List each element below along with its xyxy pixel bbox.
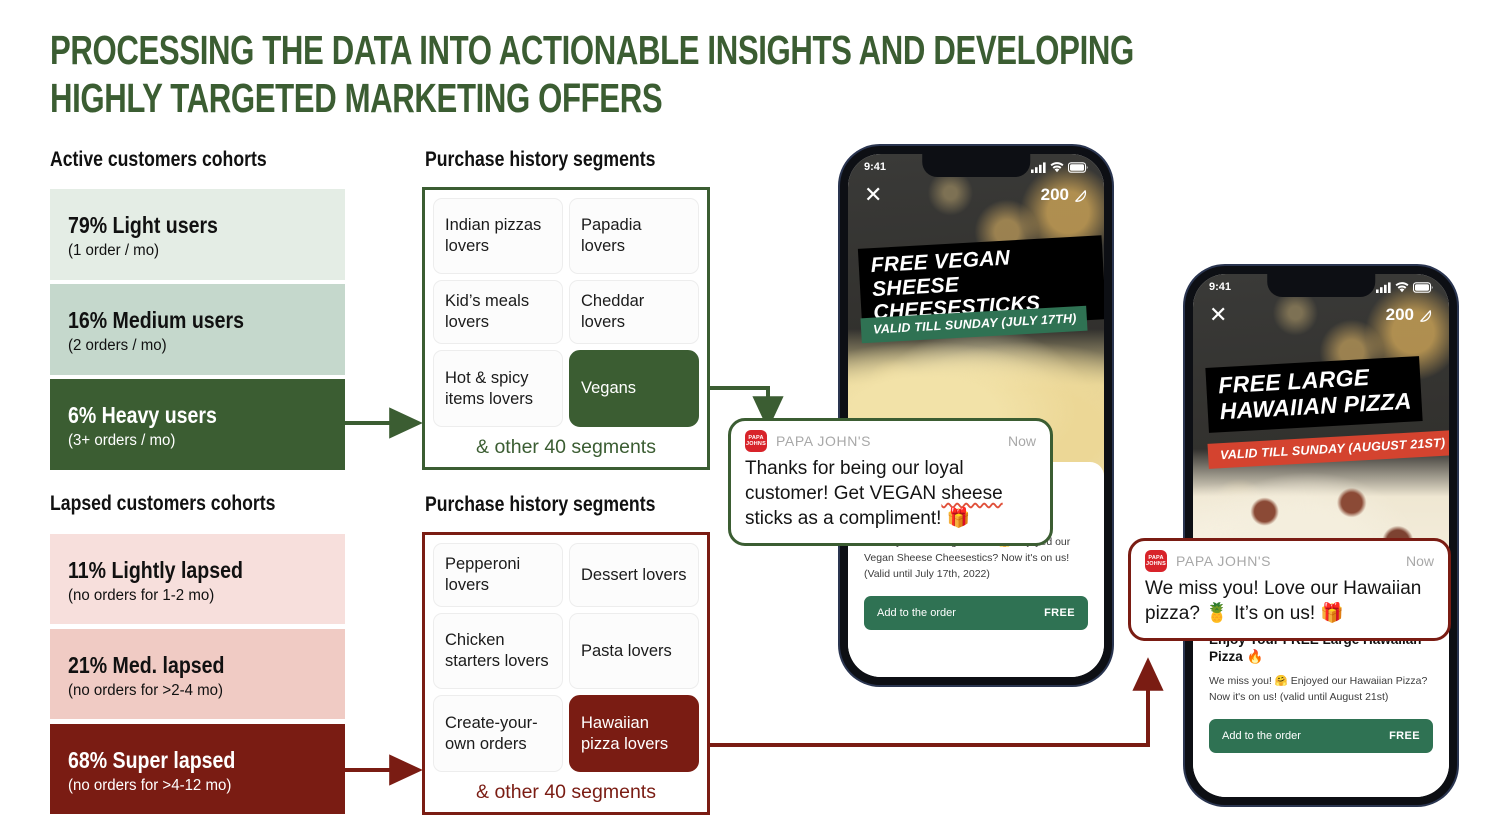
segment-cheddar-lovers[interactable]: Cheddar lovers xyxy=(569,280,699,344)
segment-dessert-lovers[interactable]: Dessert lovers xyxy=(569,543,699,607)
segment-pasta-lovers[interactable]: Pasta lovers xyxy=(569,613,699,689)
offer-banner-hawaiian: Free Large Hawaiian Pizza xyxy=(1205,356,1422,432)
segments-top-grid: Indian pizzas lovers Papadia lovers Kid’… xyxy=(425,190,707,429)
segments-top-footer: & other 40 segments xyxy=(425,429,707,468)
active-cohorts-heading: Active customers cohorts xyxy=(50,148,267,172)
segment-papadia-lovers[interactable]: Papadia lovers xyxy=(569,198,699,274)
cohort-med-lapsed-detail: (no orders for >2-4 mo) xyxy=(68,681,319,701)
cohort-light-users-detail: (1 order / mo) xyxy=(68,241,319,261)
page-title: Processing the data into actionable insi… xyxy=(50,26,947,122)
cohort-super-lapsed[interactable]: 68% Super lapsed (no orders for >4-12 mo… xyxy=(50,724,345,814)
cohort-lightly-lapsed[interactable]: 11% Lightly lapsed (no orders for 1-2 mo… xyxy=(50,534,345,624)
push-hawaiian-message: We miss you! Love our Hawaiian pizza? 🍍 … xyxy=(1145,576,1434,626)
close-icon[interactable]: ✕ xyxy=(864,184,882,206)
battery-icon xyxy=(1413,282,1433,293)
add-to-order-button[interactable]: Add to the order FREE xyxy=(864,596,1088,630)
logo-line-2: JOHNS xyxy=(1146,561,1166,567)
push-vegan-message: Thanks for being our loyal customer! Get… xyxy=(745,456,1036,531)
cohort-med-lapsed-label: 21% Med. lapsed xyxy=(68,652,288,678)
phone-hawaiian-hero-controls: ✕ 200 xyxy=(1193,304,1449,326)
push-message-misspelled-word: sheese xyxy=(941,483,1002,504)
cohort-light-users[interactable]: 79% Light users (1 order / mo) xyxy=(50,189,345,280)
papa-johns-logo-icon: PAPA JOHNS xyxy=(745,430,767,452)
segments-bottom-footer: & other 40 segments xyxy=(425,774,707,813)
push-brand-name: PAPA JOHN'S xyxy=(776,433,999,449)
status-time: 9:41 xyxy=(1209,281,1231,293)
segment-create-your-own-orders[interactable]: Create-your-own orders xyxy=(433,695,563,772)
push-notification-hawaiian[interactable]: PAPA JOHNS PAPA JOHN'S Now We miss you! … xyxy=(1128,538,1451,641)
segment-indian-pizzas-lovers[interactable]: Indian pizzas lovers xyxy=(433,198,563,274)
battery-icon xyxy=(1068,162,1088,173)
push-notification-vegan[interactable]: PAPA JOHNS PAPA JOHN'S Now Thanks for be… xyxy=(728,418,1053,546)
segments-top-heading: Purchase history segments xyxy=(425,148,655,172)
cohort-heavy-users-detail: (3+ orders / mo) xyxy=(68,431,319,451)
segment-hawaiian-pizza-lovers[interactable]: Hawaiian pizza lovers xyxy=(569,695,699,772)
segments-bottom-grid: Pepperoni lovers Dessert lovers Chicken … xyxy=(425,535,707,774)
segment-hot-spicy-items-lovers[interactable]: Hot & spicy items lovers xyxy=(433,350,563,427)
cohort-heavy-users[interactable]: 6% Heavy users (3+ orders / mo) xyxy=(50,379,345,470)
cohort-super-lapsed-label: 68% Super lapsed xyxy=(68,747,288,773)
push-message-part-b: sticks as a compliment! 🎁 xyxy=(745,508,970,529)
cohort-super-lapsed-detail: (no orders for >4-12 mo) xyxy=(68,776,319,796)
cellular-signal-icon xyxy=(1376,282,1391,293)
segment-kids-meals-lovers[interactable]: Kid’s meals lovers xyxy=(433,280,563,344)
add-to-order-button[interactable]: Add to the order FREE xyxy=(1209,719,1433,753)
segment-vegans[interactable]: Vegans xyxy=(569,350,699,427)
papa-johns-logo-icon: PAPA JOHNS xyxy=(1145,550,1167,572)
offer-banner-line-1: Free Vegan Sheese xyxy=(870,246,1011,300)
close-icon[interactable]: ✕ xyxy=(1209,304,1227,326)
pizza-slice-icon xyxy=(1073,188,1088,203)
add-to-order-label: Add to the order xyxy=(877,607,956,619)
phone-mockup-vegan: 9:41 xyxy=(840,146,1112,685)
status-indicators xyxy=(1031,162,1088,173)
cohort-medium-users-label: 16% Medium users xyxy=(68,307,288,333)
points-badge[interactable]: 200 xyxy=(1386,305,1433,325)
segment-chicken-starters-lovers[interactable]: Chicken starters lovers xyxy=(433,613,563,689)
add-to-order-price: FREE xyxy=(1389,730,1420,742)
phone-vegan-hero-controls: ✕ 200 xyxy=(848,184,1104,206)
slide-canvas: Processing the data into actionable insi… xyxy=(0,0,1488,840)
logo-line-2: JOHNS xyxy=(746,441,766,447)
push-message-part-a: Thanks for being our loyal customer! Get… xyxy=(745,458,964,504)
push-timestamp: Now xyxy=(1406,553,1434,569)
push-hawaiian-header: PAPA JOHNS PAPA JOHN'S Now xyxy=(1145,550,1434,572)
phone-hawaiian-screen: 9:41 xyxy=(1193,274,1449,797)
segments-top-panel: Indian pizzas lovers Papadia lovers Kid’… xyxy=(422,187,710,470)
page-title-line-1: Processing the data into actionable insi… xyxy=(50,26,947,74)
push-vegan-header: PAPA JOHNS PAPA JOHN'S Now xyxy=(745,430,1036,452)
points-badge[interactable]: 200 xyxy=(1041,185,1088,205)
page-title-line-2: Highly targeted marketing offers xyxy=(50,74,947,122)
phone-notch xyxy=(922,154,1030,177)
cohort-med-lapsed[interactable]: 21% Med. lapsed (no orders for >2-4 mo) xyxy=(50,629,345,719)
cohort-medium-users-detail: (2 orders / mo) xyxy=(68,336,319,356)
push-timestamp: Now xyxy=(1008,433,1036,449)
phone-notch xyxy=(1267,274,1375,297)
phone-mockup-hawaiian: 9:41 xyxy=(1185,266,1457,805)
wifi-icon xyxy=(1395,282,1409,293)
segments-bottom-panel: Pepperoni lovers Dessert lovers Chicken … xyxy=(422,532,710,815)
push-brand-name: PAPA JOHN'S xyxy=(1176,553,1397,569)
offer-sheet-body: We miss you! 🤗 Enjoyed our Hawaiian Pizz… xyxy=(1209,673,1433,705)
points-value: 200 xyxy=(1386,305,1414,325)
points-value: 200 xyxy=(1041,185,1069,205)
phone-vegan-screen: 9:41 xyxy=(848,154,1104,677)
lapsed-cohorts-heading: Lapsed customers cohorts xyxy=(50,492,275,516)
pizza-slice-icon xyxy=(1418,308,1433,323)
cohort-light-users-label: 79% Light users xyxy=(68,212,288,238)
segments-bottom-heading: Purchase history segments xyxy=(425,493,655,517)
cellular-signal-icon xyxy=(1031,162,1046,173)
segment-pepperoni-lovers[interactable]: Pepperoni lovers xyxy=(433,543,563,607)
add-to-order-label: Add to the order xyxy=(1222,730,1301,742)
status-indicators xyxy=(1376,282,1433,293)
cohort-lightly-lapsed-detail: (no orders for 1-2 mo) xyxy=(68,586,319,606)
wifi-icon xyxy=(1050,162,1064,173)
add-to-order-price: FREE xyxy=(1044,607,1075,619)
cohort-heavy-users-label: 6% Heavy users xyxy=(68,402,288,428)
status-time: 9:41 xyxy=(864,161,886,173)
cohort-lightly-lapsed-label: 11% Lightly lapsed xyxy=(68,557,288,583)
cohort-medium-users[interactable]: 16% Medium users (2 orders / mo) xyxy=(50,284,345,375)
